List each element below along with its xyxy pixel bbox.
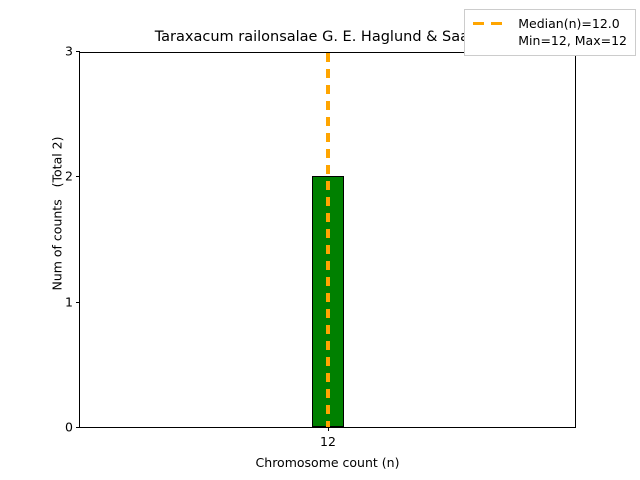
legend: Median(n)=12.0 Min=12, Max=12 <box>464 9 636 56</box>
dashed-line-icon <box>473 18 509 30</box>
y-axis-label: Num of counts (Total 2) <box>50 26 65 402</box>
x-tick-mark <box>328 427 329 431</box>
legend-entry-minmax: Min=12, Max=12 <box>473 32 627 49</box>
y-tick-mark <box>76 176 80 177</box>
y-tick-mark <box>76 302 80 303</box>
x-axis-label: Chromosome count (n) <box>79 455 576 470</box>
legend-label-median: Median(n)=12.0 <box>518 15 619 32</box>
legend-entry-median: Median(n)=12.0 <box>473 15 627 32</box>
y-tick-mark <box>76 51 80 52</box>
legend-label-minmax: Min=12, Max=12 <box>518 32 627 49</box>
x-tick-label: 12 <box>320 434 336 449</box>
y-tick-label: 3 <box>65 44 73 59</box>
y-tick-mark <box>76 427 80 428</box>
plot-area: 0 1 2 3 12 <box>79 52 576 428</box>
y-tick-label: 0 <box>65 420 73 435</box>
y-tick-label: 1 <box>65 294 73 309</box>
y-tick-label: 2 <box>65 169 73 184</box>
matplotlib-figure: Taraxacum railonsalae G. E. Haglund & Sa… <box>0 0 640 480</box>
median-line <box>326 53 330 427</box>
